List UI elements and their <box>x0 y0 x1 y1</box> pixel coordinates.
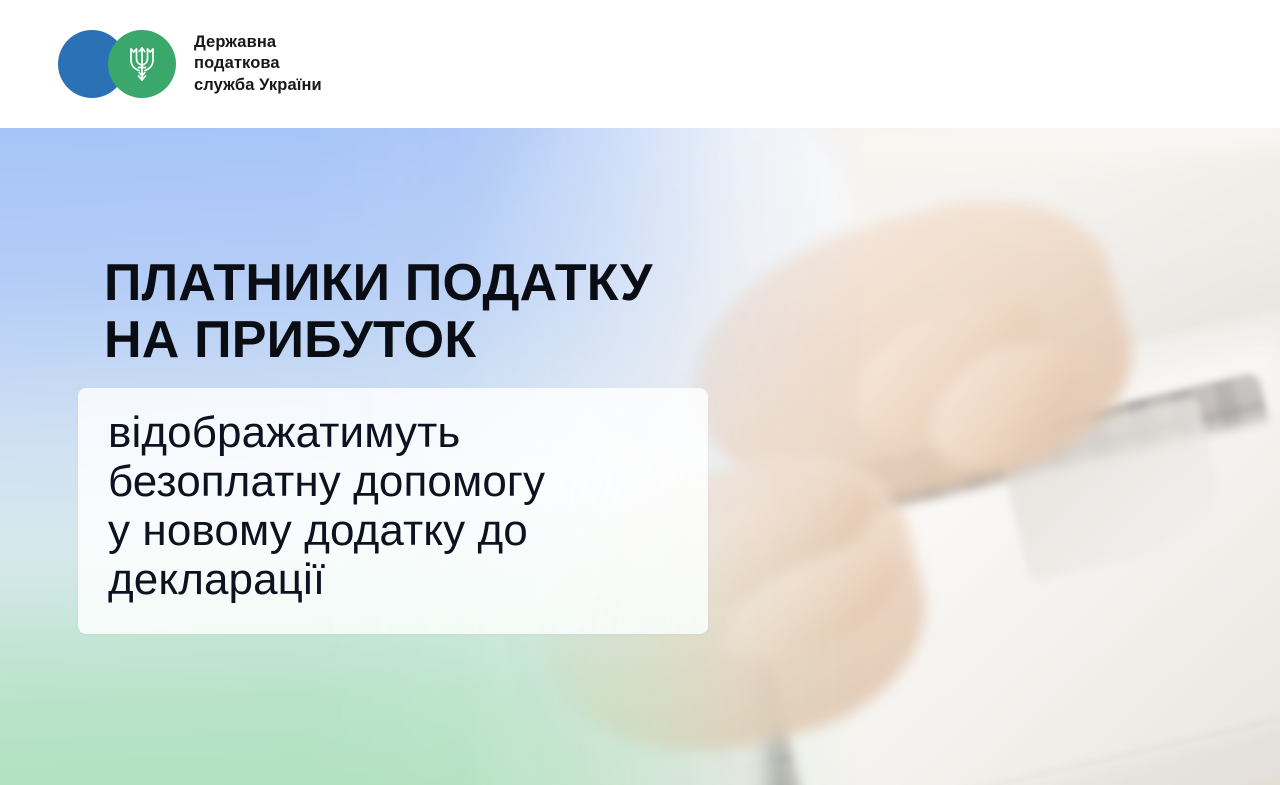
message-line-2: безоплатну допомогу <box>108 457 545 506</box>
page-title: ПЛАТНИКИ ПОДАТКУ НА ПРИБУТОК <box>104 255 653 369</box>
logo-text: Державна податкова служба України <box>194 32 322 97</box>
logo-text-line-2: податкова <box>194 53 322 75</box>
headline-line-1: ПЛАТНИКИ ПОДАТКУ <box>104 255 653 312</box>
header-band: Державна податкова служба України <box>0 0 1280 128</box>
message-line-4: декларації <box>108 555 545 604</box>
message-line-1: відображатимуть <box>108 408 545 457</box>
logo-text-line-1: Державна <box>194 32 322 54</box>
logo-text-line-3: служба України <box>194 75 322 97</box>
message-line-3: у новому додатку до <box>108 506 545 555</box>
logo-marks <box>58 30 176 98</box>
headline-line-2: НА ПРИБУТОК <box>104 312 653 369</box>
logo-lockup[interactable]: Державна податкова служба України <box>58 30 322 98</box>
message-card: відображатимуть безоплатну допомогу у но… <box>78 388 708 634</box>
ukraine-trident-icon <box>108 30 176 98</box>
poster: ПЛАТНИКИ ПОДАТКУ НА ПРИБУТОК відображати… <box>0 0 1280 785</box>
message-text: відображатимуть безоплатну допомогу у но… <box>108 408 545 604</box>
